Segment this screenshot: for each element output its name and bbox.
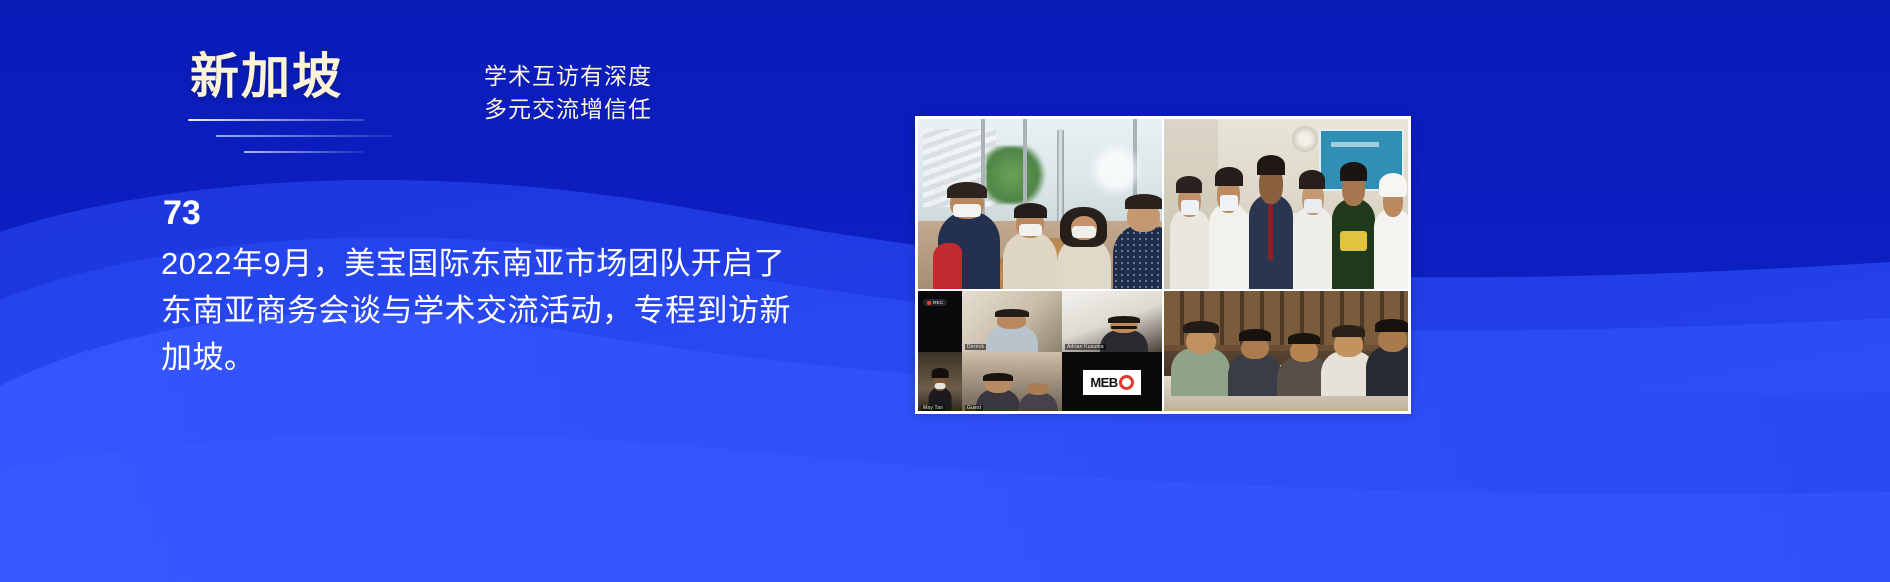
underline-line-1 [188, 119, 364, 121]
subtitle-line-1: 学术互访有深度 [484, 60, 652, 93]
body-paragraph: 2022年9月，美宝国际东南亚市场团队开启了 东南亚商务会谈与学术交流活动，专程… [161, 240, 821, 381]
title-underline-decoration [190, 119, 410, 163]
tile-brand-logo[interactable]: MEB [1062, 352, 1162, 411]
participant-name-1: Derrick [965, 344, 986, 350]
underline-line-3 [244, 151, 364, 153]
tile-participant-4[interactable]: Guest [962, 352, 1062, 411]
subtitle-block: 学术互访有深度 多元交流增信任 [484, 60, 652, 125]
tile-empty-left[interactable]: REC [918, 291, 962, 352]
mebo-ring-icon [1119, 375, 1134, 390]
dinner-gathering-photo [1164, 291, 1408, 411]
underline-line-2 [216, 135, 392, 137]
mebo-logo: MEB [1062, 352, 1162, 411]
participant-name-2: Adrian Kusuma [1065, 344, 1106, 350]
rec-dot-icon [927, 301, 931, 305]
heading-block: 新加坡 [190, 52, 410, 163]
video-call-photo: REC Derrick [918, 291, 1162, 411]
tile-participant-3[interactable]: May Tan [918, 352, 962, 411]
tile-participant-1[interactable]: Derrick [962, 291, 1062, 352]
body-line-3: 加坡。 [161, 334, 821, 381]
item-number: 73 [163, 194, 201, 233]
office-group-photo [1164, 119, 1408, 289]
participant-name-4: Guest [965, 405, 983, 411]
page-title: 新加坡 [190, 52, 410, 103]
body-line-1: 2022年9月，美宝国际东南亚市场团队开启了 [161, 240, 821, 287]
rec-indicator: REC [923, 299, 947, 306]
cafe-meeting-photo [918, 119, 1162, 289]
video-grid: REC Derrick [918, 291, 1162, 411]
tile-participant-2[interactable]: Adrian Kusuma [1062, 291, 1162, 352]
slide-root: 新加坡 学术互访有深度 多元交流增信任 73 2022年9月，美宝国际东南亚市场… [0, 0, 1890, 582]
body-line-2: 东南亚商务会谈与学术交流活动，专程到访新 [161, 287, 821, 334]
subtitle-line-2: 多元交流增信任 [484, 93, 652, 126]
rec-label: REC [933, 300, 943, 305]
participant-name-3: May Tan [921, 405, 945, 411]
mebo-wordmark: MEB [1090, 375, 1117, 390]
photo-collage: REC Derrick [915, 116, 1411, 414]
